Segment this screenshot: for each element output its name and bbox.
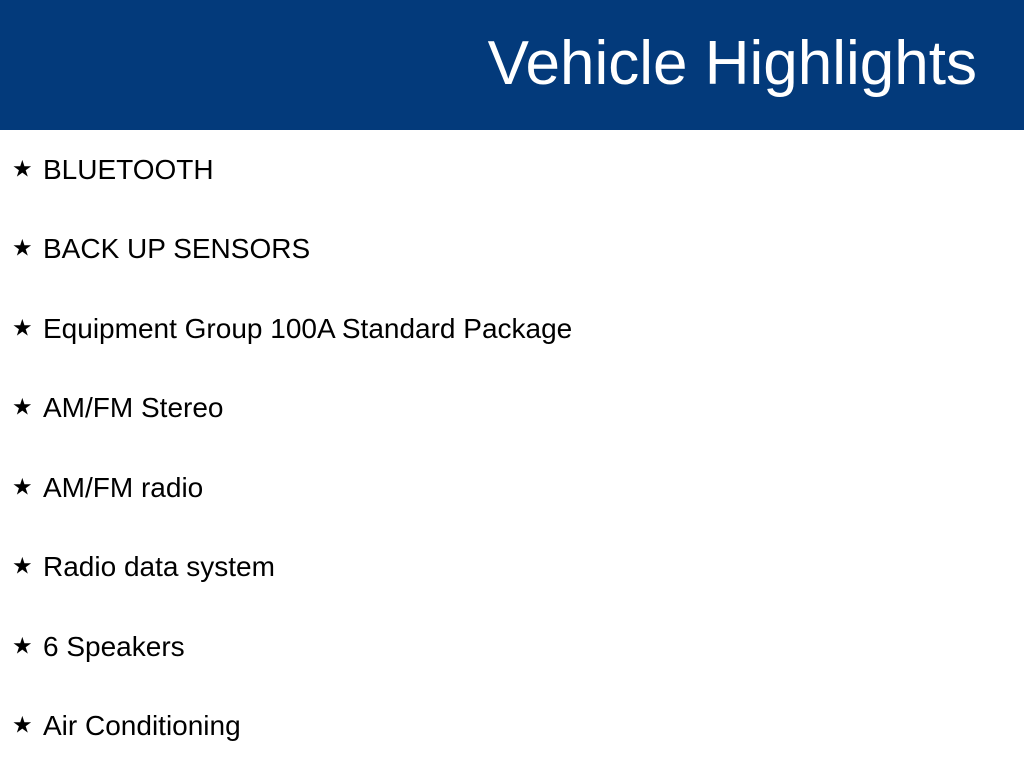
list-item: ★ Equipment Group 100A Standard Package (0, 289, 1024, 369)
header-banner: Vehicle Highlights (0, 0, 1024, 130)
list-item-label: Air Conditioning (43, 709, 241, 743)
list-item-label: BLUETOOTH (43, 153, 214, 187)
star-bullet-icon: ★ (12, 317, 33, 340)
star-bullet-icon: ★ (12, 158, 33, 181)
star-bullet-icon: ★ (12, 556, 33, 579)
list-item: ★ 6 Speakers (0, 607, 1024, 687)
list-item-label: Radio data system (43, 550, 275, 584)
list-item: ★ Radio data system (0, 528, 1024, 608)
vehicle-highlights-list: ★ BLUETOOTH ★ BACK UP SENSORS ★ Equipmen… (0, 130, 1024, 766)
star-bullet-icon: ★ (12, 238, 33, 261)
list-item-label: Equipment Group 100A Standard Package (43, 312, 572, 346)
list-item-label: 6 Speakers (43, 630, 185, 664)
list-item-label: BACK UP SENSORS (43, 232, 310, 266)
page-title: Vehicle Highlights (488, 28, 977, 100)
list-item-label: AM/FM radio (43, 471, 203, 505)
list-item: ★ AM/FM radio (0, 448, 1024, 528)
vehicle-highlights-slide: Vehicle Highlights ★ BLUETOOTH ★ BACK UP… (0, 0, 1024, 768)
list-item: ★ Air Conditioning (0, 687, 1024, 767)
list-item-label: AM/FM Stereo (43, 391, 223, 425)
list-item: ★ BACK UP SENSORS (0, 210, 1024, 290)
star-bullet-icon: ★ (12, 635, 33, 658)
list-item: ★ BLUETOOTH (0, 130, 1024, 210)
star-bullet-icon: ★ (12, 397, 33, 420)
star-bullet-icon: ★ (12, 715, 33, 738)
list-item: ★ AM/FM Stereo (0, 369, 1024, 449)
star-bullet-icon: ★ (12, 476, 33, 499)
